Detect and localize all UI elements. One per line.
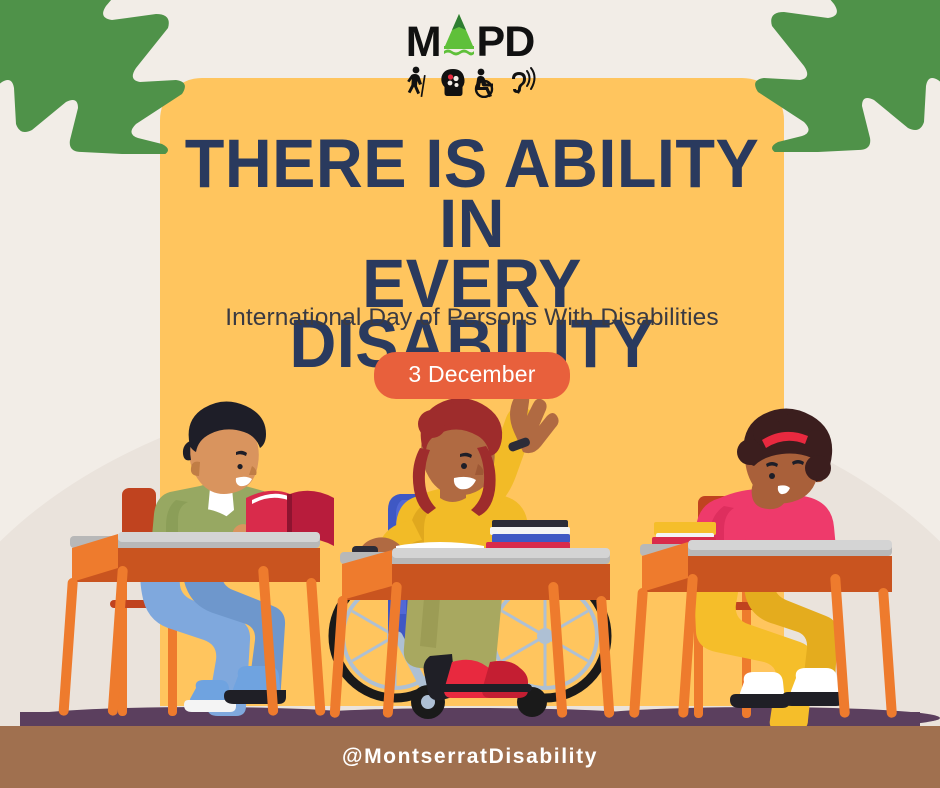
- mapd-logo: M PD: [0, 12, 940, 103]
- logo-letters-pd: PD: [477, 21, 535, 64]
- blind-person-with-cane-icon: [405, 66, 435, 103]
- footer-band: @MontserratDisability: [0, 726, 940, 788]
- wheelchair-icon: [471, 66, 501, 103]
- social-handle[interactable]: @MontserratDisability: [342, 745, 598, 769]
- accessibility-icon-row: [405, 66, 536, 103]
- logo-wordmark: M PD: [406, 12, 535, 64]
- head-with-gears-icon: [438, 66, 468, 103]
- date-badge[interactable]: 3 December: [374, 352, 569, 399]
- green-mountain-icon: [442, 12, 476, 64]
- headline-line-1: THERE IS ABILITY IN: [179, 134, 766, 254]
- ear-hearing-icon: [504, 66, 536, 103]
- headline: THERE IS ABILITY IN EVERY DISABILITY: [160, 134, 784, 374]
- subtitle: International Day of Persons With Disabi…: [160, 304, 784, 332]
- poster-canvas: M PD: [0, 0, 940, 788]
- logo-letter-m: M: [406, 21, 441, 64]
- date-badge-container: 3 December: [160, 352, 784, 399]
- shoe-right-back: [730, 672, 790, 708]
